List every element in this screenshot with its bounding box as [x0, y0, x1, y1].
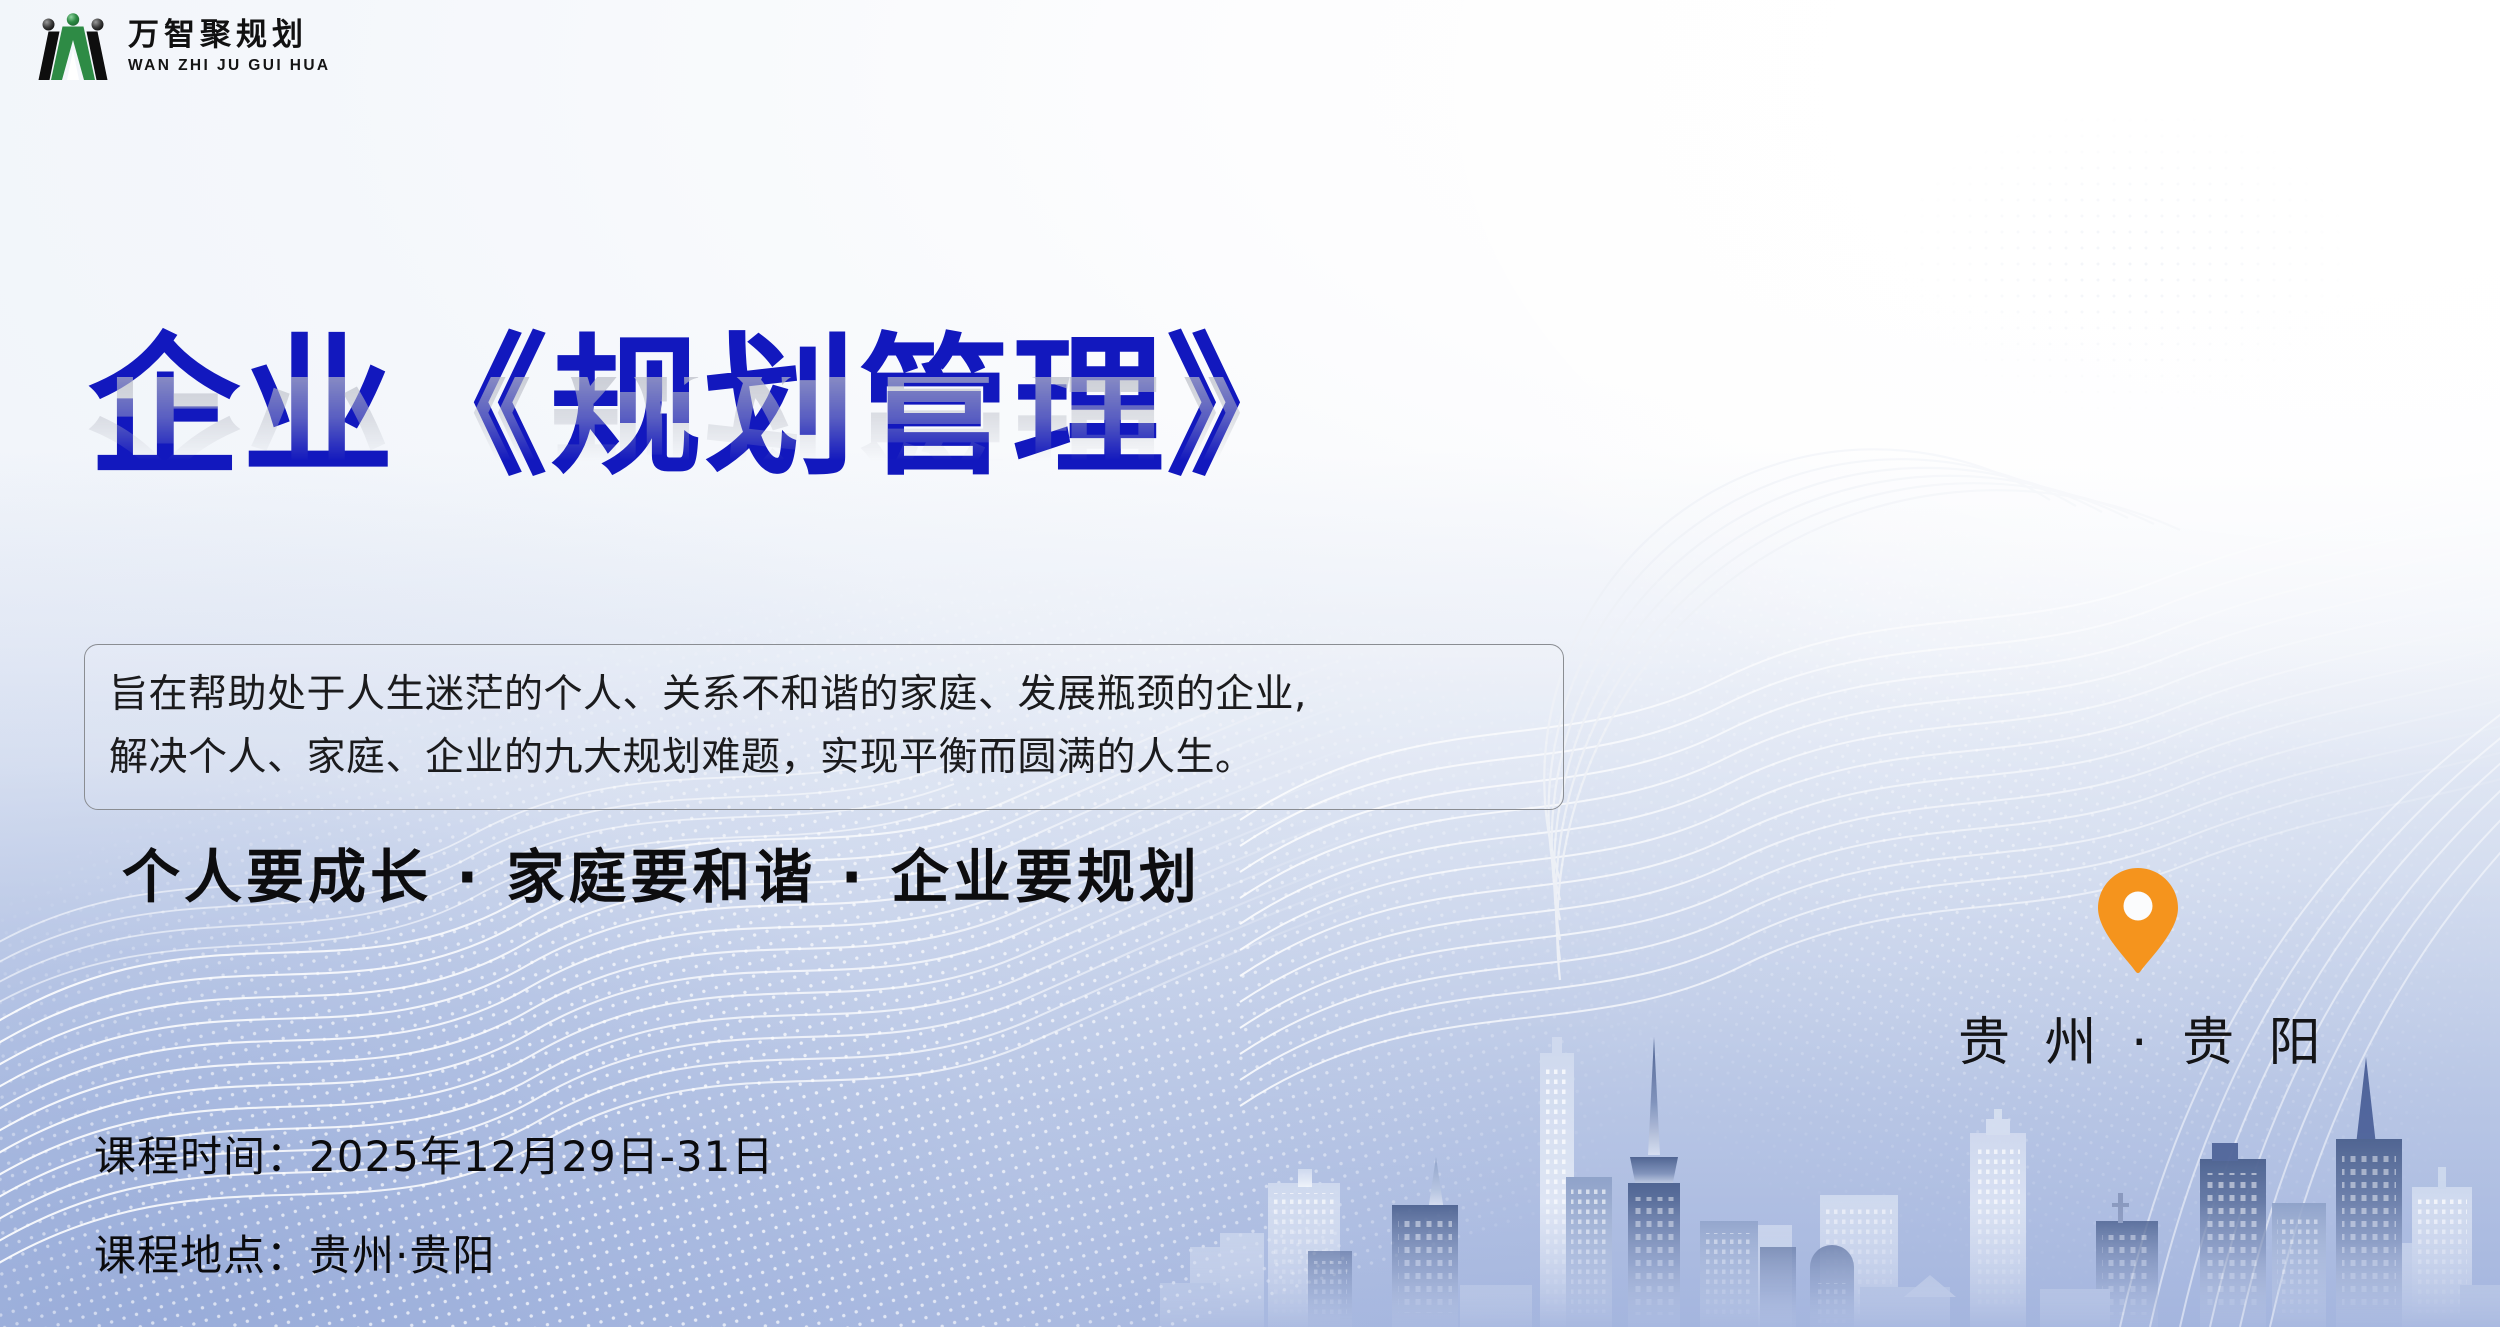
course-info-block: 课程时间：2025年12月29日-31日 课程地点：贵州·贵阳	[94, 1123, 774, 1283]
course-time: 课程时间：2025年12月29日-31日	[94, 1123, 774, 1184]
poster-canvas: 万智聚规划 WAN ZHI JU GUI HUA 企业《规划管理》 企业《规划管…	[0, 0, 2500, 1327]
description-box: 旨在帮助处于人生迷茫的个人、关系不和谐的家庭、发展瓶颈的企业, 解决个人、家庭、…	[84, 644, 1564, 810]
brand-name-en: WAN ZHI JU GUI HUA	[128, 58, 331, 74]
description-line-2: 解决个人、家庭、企业的九大规划难题，实现平衡而圆满的人生。	[109, 726, 1541, 789]
location-block: 贵 州 · 贵 阳	[1958, 866, 2318, 1075]
hero-title-block: 企业《规划管理》 企业《规划管理》	[88, 330, 1320, 593]
page-title: 企业《规划管理》	[88, 330, 1320, 485]
map-pin-icon	[2095, 866, 2181, 976]
three-people-mountain-logo-icon	[34, 12, 112, 82]
brand-logo[interactable]: 万智聚规划 WAN ZHI JU GUI HUA	[34, 12, 331, 82]
brand-logo-text: 万智聚规划 WAN ZHI JU GUI HUA	[128, 20, 331, 74]
location-city: 贵 州 · 贵 阳	[1958, 1000, 2318, 1075]
description-line-1: 旨在帮助处于人生迷茫的个人、关系不和谐的家庭、发展瓶颈的企业,	[109, 663, 1541, 726]
course-place: 课程地点：贵州·贵阳	[94, 1222, 774, 1283]
brand-name-cn: 万智聚规划	[128, 20, 331, 51]
halftone-dot-pattern-icon-topright	[1850, 80, 2400, 452]
tagline: 个人要成长 · 家庭要和谐 · 企业要规划	[122, 830, 1201, 914]
